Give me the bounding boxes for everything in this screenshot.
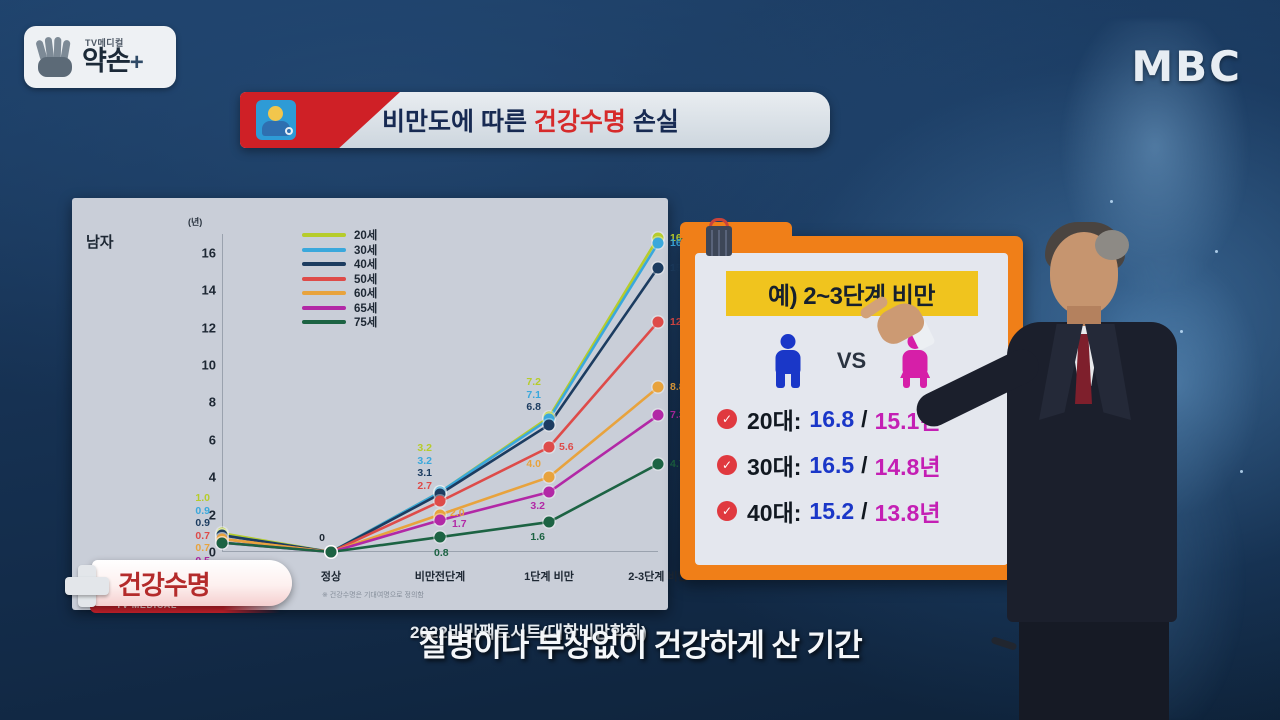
bug-label: 건강수명 [118, 565, 210, 602]
medical-cross-icon [62, 565, 112, 607]
data-point-50세-1단계 비만 [544, 442, 555, 453]
stat-age: 40대: [747, 494, 801, 528]
page-title: 비만도에 따른 건강수명 손실 [382, 102, 679, 138]
value-label-s1-1: 7.1 [526, 389, 541, 401]
data-point-60세-1단계 비만 [544, 472, 555, 483]
title-banner: 비만도에 따른 건강수명 손실 [240, 92, 830, 148]
chart-footnote: ※ 건강수명은 기대여명으로 정의함 [322, 590, 424, 600]
data-point-30세-2-3단계 비만 [653, 238, 664, 249]
value-label-low-3: 0.7 [195, 530, 210, 542]
stat-male-value: 15.2 [809, 498, 854, 525]
stat-age: 30대: [747, 448, 801, 482]
show-logo: TV메디컬 약손+ [24, 26, 176, 88]
x-label-비만전단계: 비만전단계 [415, 568, 466, 584]
paper-clip-icon [704, 218, 734, 258]
sparkle-icon [1215, 250, 1218, 253]
chart-card: 남자 (년) 0246810121416 20세30세40세50세60세65세7… [72, 198, 668, 610]
stat-age: 20대: [747, 402, 801, 436]
title-suffix: 손실 [626, 108, 679, 136]
show-logo-plus: + [130, 49, 143, 76]
vs-label: VS [837, 348, 866, 374]
value-label-pre-0: 3.2 [417, 442, 432, 454]
bug-pill: 건강수명 [92, 560, 292, 606]
value-label-pre-2: 3.1 [417, 467, 432, 479]
data-point-65세-비만전단계 [435, 515, 446, 526]
value-label-low-4: 0.7 [195, 542, 210, 554]
doctor-icon [256, 100, 296, 140]
data-point-75세-비만전단계 [435, 532, 446, 543]
x-label-1단계 비만: 1단계 비만 [524, 568, 574, 584]
hand-icon [32, 36, 80, 78]
program-bug: TV MEDICAL 건강수명 [62, 555, 310, 613]
data-point-65세-1단계 비만 [544, 487, 555, 498]
value-label-low-2: 0.9 [195, 517, 210, 529]
value-label-low-0: 1.0 [195, 492, 210, 504]
caption-subtitle: 질병이나 부상없이 건강하게 산 기간 [0, 620, 1280, 665]
chart-inner: 남자 (년) 0246810121416 20세30세40세50세60세65세7… [72, 198, 668, 610]
stat-separator: / [861, 498, 867, 525]
value-label-pre-1: 3.2 [417, 455, 432, 467]
value-label-s1-2: 6.8 [526, 401, 541, 413]
stat-rows: ✓20대:16.8/15.1년✓30대:16.5/14.8년✓40대:15.2/… [711, 402, 992, 528]
x-label-정상: 정상 [321, 568, 341, 584]
stat-male-value: 16.5 [809, 452, 854, 479]
data-point-40세-1단계 비만 [544, 419, 555, 430]
stat-separator: / [861, 452, 867, 479]
mbc-logo: MBC [1131, 42, 1242, 91]
stat-female-value: 13.8년 [875, 494, 941, 528]
title-prefix: 비만도에 따른 [382, 108, 534, 136]
stat-female-value: 14.8년 [875, 448, 941, 482]
value-label-normal-0: 0 [319, 532, 325, 544]
data-point-75세-2-3단계 비만 [653, 459, 664, 470]
value-label-s1-6: 1.6 [530, 531, 545, 543]
value-label-s1-0: 7.2 [526, 376, 541, 388]
data-point-50세-비만전단계 [435, 496, 446, 507]
value-label-pre-3: 2.7 [417, 480, 432, 492]
check-icon: ✓ [717, 501, 737, 521]
data-point-75세-정상 [326, 547, 337, 558]
value-label-pre-6: 0.8 [434, 547, 449, 559]
data-point-50세-2-3단계 비만 [653, 316, 664, 327]
data-point-60세-2-3단계 비만 [653, 382, 664, 393]
stat-row: ✓40대:15.2/13.8년 [711, 494, 992, 528]
data-point-75세-1단계 비만 [544, 517, 555, 528]
value-label-low-1: 0.9 [195, 505, 210, 517]
male-figure-icon [773, 334, 803, 388]
value-label-s1-4: 4.0 [526, 458, 541, 470]
data-point-65세-2-3단계 비만 [653, 410, 664, 421]
value-label-s1-3: 5.6 [559, 441, 574, 453]
check-icon: ✓ [717, 455, 737, 475]
data-point-40세-2-3단계 비만 [653, 262, 664, 273]
stat-row: ✓30대:16.5/14.8년 [711, 448, 992, 482]
value-label-pre-5: 1.7 [452, 518, 467, 530]
stat-separator: / [861, 406, 867, 433]
value-label-pre-4: 2.0 [450, 507, 465, 519]
stat-male-value: 16.8 [809, 406, 854, 433]
example-header: 예) 2~3단계 비만 [726, 271, 978, 316]
sparkle-icon [1110, 200, 1113, 203]
value-label-s1-5: 3.2 [530, 500, 545, 512]
chart-lines [72, 198, 668, 610]
sparkle-icon [1240, 470, 1243, 473]
panel-tab [680, 222, 792, 238]
x-label-2-3단계 비만: 2-3단계 비만 [628, 568, 687, 584]
show-logo-name: 약손 [82, 46, 130, 76]
title-highlight: 건강수명 [534, 108, 626, 136]
check-icon: ✓ [717, 409, 737, 429]
data-point-75세-저체중 [217, 537, 228, 548]
series-line-60세 [222, 387, 658, 552]
